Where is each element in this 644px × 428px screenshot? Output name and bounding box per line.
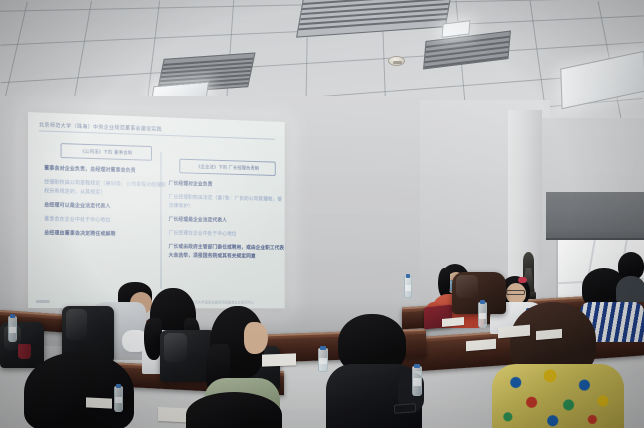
red-cup[interactable] [18, 344, 31, 359]
slide-corner-mark [36, 300, 50, 303]
slide-bullet: 厂长经理是企业法定代表人 [169, 216, 285, 226]
slide-bullet: 董事会在企业中处于中心地位 [44, 215, 167, 225]
slide-column-left-header: 《公司法》下的 董事会制 [60, 143, 151, 161]
fluorescent-light-panel [560, 51, 644, 109]
water-bottle[interactable] [404, 276, 412, 298]
smartphone[interactable] [394, 403, 417, 414]
slide-bullet: 总经理可以是企业法定代表人 [44, 201, 167, 212]
slide-bullet: 董事会对企业负责，总经理对董事会负责 [44, 165, 167, 177]
air-vent-diffuser-right [296, 0, 454, 38]
classroom-photo-scene: 北京师范大学（珠海）中央企业规范董事会建设实践 《公司法》下的 董事会制 董事会… [0, 0, 644, 428]
slide-column-left: 《公司法》下的 董事会制 董事会对企业负责，总经理对董事会负责 经理职权由公司章… [44, 143, 167, 246]
slide-bullet: 厂长经理职权由法定（第7条：厂长的公司管理权，受法律保护） [169, 194, 285, 212]
water-bottle[interactable] [412, 366, 422, 396]
hair-clip [518, 277, 527, 283]
water-bottle[interactable] [318, 348, 328, 372]
projection-screen: 北京师范大学（珠海）中央企业规范董事会建设实践 《公司法》下的 董事会制 董事会… [28, 112, 285, 308]
paper-document[interactable] [262, 353, 296, 366]
person-far-right-partial [618, 252, 644, 300]
slide-bullet: 厂长经理对企业负责 [169, 180, 285, 191]
water-bottle[interactable] [478, 302, 487, 328]
glasses [506, 290, 525, 295]
person-foreground-center [186, 392, 282, 428]
slide-bullet: 经理职权由公司章程规定（第50条：公司章程对经理职权另有规定的，从其规定） [44, 179, 167, 198]
slide-bullet: 总经理由董事会决定聘任或解聘 [44, 230, 167, 240]
torso-patterned-blouse [492, 364, 624, 428]
slide-column-right: 《企业法》下的 厂长经理负责制 厂长经理对企业负责 厂长经理职权由法定（第7条：… [169, 158, 285, 266]
slide-column-right-header: 《企业法》下的 厂长经理负责制 [179, 159, 275, 176]
person-foreground-left [24, 352, 142, 428]
slide-bullet: 厂长或由政府主管部门委任或聘用，或由企业职工代表大会选举，须报国务院或其有关规定… [169, 243, 285, 260]
sprinkler-head-right [466, 26, 476, 38]
water-bottle[interactable] [114, 386, 123, 412]
window-blind[interactable] [546, 192, 644, 240]
paper-document[interactable] [86, 397, 112, 408]
face [244, 322, 268, 354]
slide-bullet: 厂长经理在企业中处于中心地位 [169, 229, 285, 239]
person-woman-patterned-blouse [492, 302, 624, 428]
smoke-detector [388, 56, 405, 66]
water-bottle[interactable] [8, 316, 17, 342]
slide-title: 北京师范大学（珠海）中央企业规范董事会建设实践 [39, 121, 275, 139]
